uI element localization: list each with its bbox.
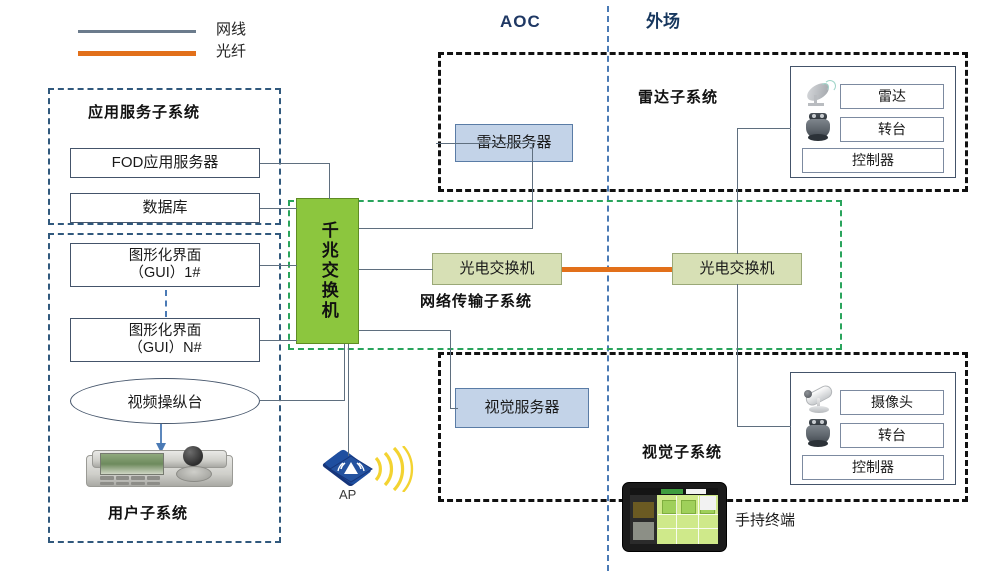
- region-user-title: 用户子系统: [108, 505, 188, 522]
- fiber-link: [562, 267, 672, 272]
- legend-fiber-label: 光纤: [216, 43, 246, 60]
- link-switch-to-radarserver-h1: [359, 228, 533, 229]
- gui-repeat-indicator: [165, 290, 167, 317]
- node-video-console[interactable]: 视频操纵台: [70, 378, 260, 424]
- region-radar-title: 雷达子系统: [638, 89, 718, 106]
- node-radar-device[interactable]: 雷达: [840, 84, 944, 109]
- link-switch-to-visionserver-h1: [359, 330, 451, 331]
- region-network-transmission-title: 网络传输子系统: [420, 293, 532, 310]
- node-vision-turntable[interactable]: 转台: [840, 423, 944, 448]
- ap-label: AP: [339, 488, 356, 503]
- node-vision-server[interactable]: 视觉服务器: [455, 388, 589, 428]
- node-optical-switch-left[interactable]: 光电交换机: [432, 253, 562, 285]
- node-vision-controller[interactable]: 控制器: [802, 455, 944, 480]
- link-switch-to-optical-left: [359, 269, 433, 270]
- node-radar-controller[interactable]: 控制器: [802, 148, 944, 173]
- node-gui-n-line2: （GUI）N#: [128, 340, 201, 357]
- link-opticalright-to-visionfield-v: [737, 284, 738, 427]
- node-optical-switch-right[interactable]: 光电交换机: [672, 253, 802, 285]
- link-switch-to-radarserver-v: [532, 143, 533, 229]
- link-console-to-switch-h: [260, 400, 345, 401]
- link-switch-to-visionserver-v: [450, 330, 451, 408]
- legend-cable-line: [78, 30, 196, 33]
- link-opticalright-to-visionfield-h: [737, 426, 791, 427]
- link-switch-to-ap: [348, 344, 349, 456]
- node-camera[interactable]: 摄像头: [840, 390, 944, 415]
- link-db-to-switch: [260, 208, 297, 209]
- link-guin-to-switch: [260, 340, 297, 341]
- diagram-canvas: AOC 外场 网线 光纤 应用服务子系统 FOD应用服务器 数据库 图形化界面 …: [0, 0, 993, 574]
- node-gui-1-line2: （GUI）1#: [130, 265, 201, 282]
- node-radar-turntable[interactable]: 转台: [840, 117, 944, 142]
- region-app-service-title: 应用服务子系统: [88, 104, 200, 121]
- region-vision-title: 视觉子系统: [642, 444, 722, 461]
- node-gigabit-switch[interactable]: 千兆交换机: [296, 198, 359, 344]
- node-fod-server[interactable]: FOD应用服务器: [70, 148, 260, 178]
- handheld-terminal-label: 手持终端: [735, 512, 795, 529]
- link-fod-to-switch-h: [260, 163, 330, 164]
- zone-label-aoc: AOC: [500, 12, 541, 32]
- zone-label-field: 外场: [646, 12, 680, 32]
- link-opticalright-to-radarfield-v: [737, 128, 738, 254]
- link-console-to-switch-v: [344, 344, 345, 401]
- legend-fiber-line: [78, 51, 196, 56]
- link-fod-to-switch-v: [329, 163, 330, 199]
- node-gui-1[interactable]: 图形化界面 （GUI）1#: [70, 243, 260, 287]
- node-database[interactable]: 数据库: [70, 193, 260, 223]
- node-gui-n[interactable]: 图形化界面 （GUI）N#: [70, 318, 260, 362]
- link-opticalright-to-radarfield-h: [737, 128, 791, 129]
- node-gui-n-line1: 图形化界面: [129, 323, 202, 340]
- link-gui1-to-switch: [260, 265, 297, 266]
- node-gui-1-line1: 图形化界面: [129, 248, 202, 265]
- legend-cable-label: 网线: [216, 21, 246, 38]
- link-visionserver-in: [450, 408, 458, 409]
- link-radarserver-in: [436, 143, 456, 144]
